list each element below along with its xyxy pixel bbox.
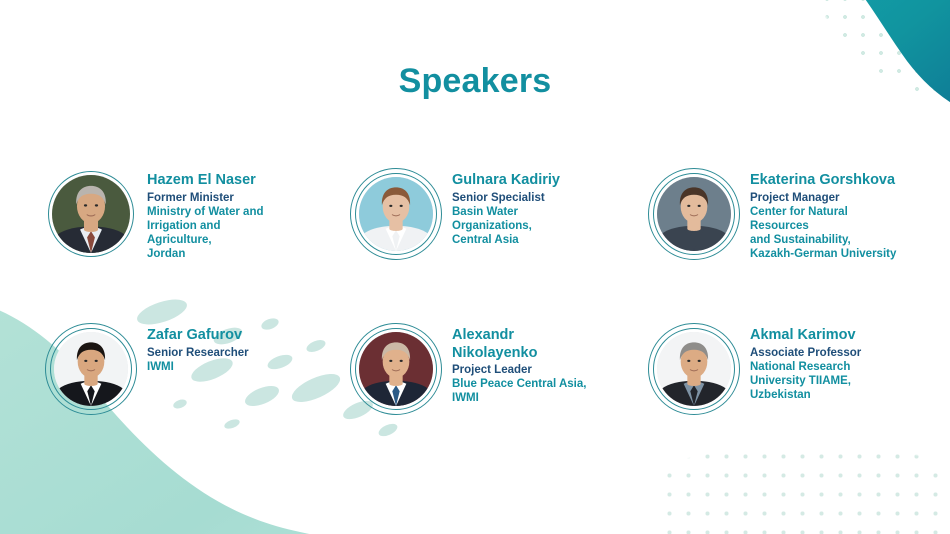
speaker-organization: National Research University TIIAME, Uzb… [750,360,861,402]
avatar [45,323,137,415]
speaker-card: Akmal Karimov Associate Professor Nation… [648,323,938,415]
speaker-name: Ekaterina Gorshkova [750,172,896,190]
speaker-name: Alexandr Nikolayenko [452,327,586,362]
speaker-role: Project Manager [750,191,896,205]
avatar [648,323,740,415]
speaker-role: Senior Specialist [452,191,560,205]
speaker-name: Hazem El Naser [147,172,264,190]
avatar-photo [359,177,433,251]
speaker-name: Akmal Karimov [750,327,861,345]
avatar-photo [657,332,731,406]
speaker-organization: Basin Water Organizations, Central Asia [452,205,560,247]
speaker-organization: IWMI [147,360,249,374]
speaker-info: Alexandr Nikolayenko Project Leader Blue… [452,323,586,405]
avatar-photo-graphic [657,177,731,251]
speaker-role: Project Leader [452,363,586,377]
avatar-photo-graphic [657,332,731,406]
avatar [350,168,442,260]
speaker-card: Hazem El Naser Former Minister Ministry … [45,168,315,261]
page-title: Speakers [0,62,950,101]
speaker-role: Senior Researcher [147,346,249,360]
speaker-role: Former Minister [147,191,264,205]
avatar-photo-graphic [359,332,433,406]
avatar-photo [52,175,130,253]
speaker-card: Ekaterina Gorshkova Project Manager Cent… [648,168,938,261]
speakers-grid: Hazem El Naser Former Minister Ministry … [0,168,950,468]
avatar-photo-graphic [52,175,130,253]
speaker-card: Gulnara Kadiriy Senior Specialist Basin … [350,168,615,260]
speaker-info: Zafar Gafurov Senior Researcher IWMI [147,323,249,374]
speaker-organization: Center for Natural Resources and Sustain… [750,205,896,261]
avatar-photo [54,332,128,406]
avatar-photo [359,332,433,406]
speaker-info: Ekaterina Gorshkova Project Manager Cent… [750,168,896,261]
avatar [45,168,137,260]
speaker-card: Zafar Gafurov Senior Researcher IWMI [45,323,315,415]
speaker-name: Zafar Gafurov [147,327,249,345]
speaker-role: Associate Professor [750,346,861,360]
speaker-name: Gulnara Kadiriy [452,172,560,190]
speaker-card: Alexandr Nikolayenko Project Leader Blue… [350,323,615,415]
avatar-photo-graphic [359,177,433,251]
speaker-info: Hazem El Naser Former Minister Ministry … [147,168,264,261]
speakers-slide: Speakers Hazem El Naser Former Minister … [0,0,950,534]
speaker-info: Akmal Karimov Associate Professor Nation… [750,323,861,402]
avatar-photo-graphic [54,332,128,406]
avatar [350,323,442,415]
speaker-organization: Ministry of Water and Irrigation and Agr… [147,205,264,261]
speaker-organization: Blue Peace Central Asia, IWMI [452,377,586,405]
avatar [648,168,740,260]
avatar-photo [657,177,731,251]
speaker-info: Gulnara Kadiriy Senior Specialist Basin … [452,168,560,247]
